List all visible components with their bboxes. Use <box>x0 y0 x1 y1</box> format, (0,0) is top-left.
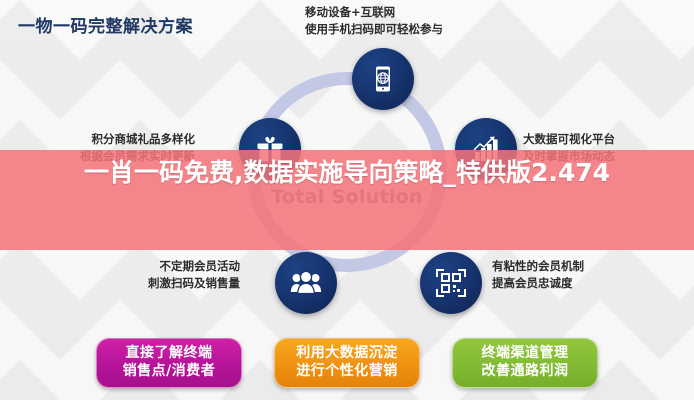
caption-chart-line1: 大数据可视化平台 <box>523 132 615 146</box>
infographic-canvas: 一物一码完整解决方案 Total Solution <box>0 0 694 400</box>
qr-scan-icon <box>435 267 467 299</box>
caption-members: 不定期会员活动 刺激扫码及销售量 <box>148 258 240 291</box>
pill-direct-terminal-line1: 直接了解终端 <box>126 345 213 361</box>
pill-bigdata-marketing[interactable]: 利用大数据沉淀 进行个性化营销 <box>274 338 420 388</box>
pill-channel-management-line1: 终端渠道管理 <box>482 345 569 361</box>
caption-mobile-line1: 移动设备+互联网 <box>305 5 395 19</box>
caption-gift-line1: 积分商城礼品多样化 <box>92 132 196 146</box>
page-title: 一物一码完整解决方案 <box>18 12 193 37</box>
node-members[interactable] <box>275 252 337 314</box>
caption-qr-line1: 有粘性的会员机制 <box>492 259 584 273</box>
benefit-pill-row: 直接了解终端 销售点/消费者 利用大数据沉淀 进行个性化营销 终端渠道管理 改善… <box>0 338 694 388</box>
pill-channel-management-line2: 改善通路利润 <box>457 363 593 381</box>
caption-members-line1: 不定期会员活动 <box>160 259 241 273</box>
pill-direct-terminal[interactable]: 直接了解终端 销售点/消费者 <box>96 338 242 388</box>
pill-bigdata-marketing-line2: 进行个性化营销 <box>279 363 415 381</box>
caption-members-line2: 刺激扫码及销售量 <box>148 275 240 292</box>
node-qr[interactable] <box>420 252 482 314</box>
caption-qr: 有粘性的会员机制 提高会员忠诚度 <box>492 258 584 291</box>
mobile-globe-icon <box>368 64 398 94</box>
pill-direct-terminal-line2: 销售点/消费者 <box>101 363 237 381</box>
caption-qr-line2: 提高会员忠诚度 <box>492 275 584 292</box>
caption-mobile: 移动设备+互联网 使用手机扫码即可轻松参与 <box>305 4 443 37</box>
overlay-banner-text: 一肖一码免费,数据实施导向策略_特供版2.474 <box>0 158 694 189</box>
users-group-icon <box>290 269 322 297</box>
node-mobile[interactable] <box>352 48 414 110</box>
caption-mobile-line2: 使用手机扫码即可轻松参与 <box>305 21 443 38</box>
pill-channel-management[interactable]: 终端渠道管理 改善通路利润 <box>452 338 598 388</box>
pill-bigdata-marketing-line1: 利用大数据沉淀 <box>296 345 398 361</box>
